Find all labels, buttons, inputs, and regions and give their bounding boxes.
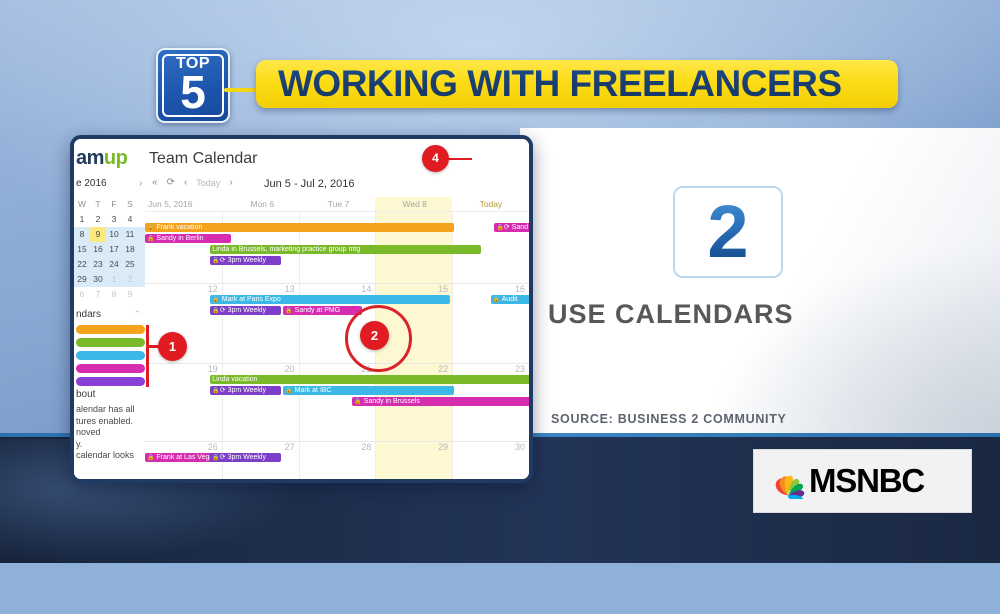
day-number[interactable] bbox=[299, 211, 376, 223]
mini-calendar-day[interactable]: 9 bbox=[90, 227, 106, 242]
day-number[interactable] bbox=[375, 211, 452, 223]
banner-title: WORKING WITH FREELANCERS bbox=[278, 64, 884, 104]
headline: USE CALENDARS bbox=[548, 299, 968, 330]
annotation-4-leader bbox=[446, 158, 472, 160]
annotation-marker-2: 2 bbox=[360, 321, 389, 350]
next-period-icon[interactable]: › bbox=[229, 177, 232, 188]
calendar-event[interactable]: Sand bbox=[494, 223, 529, 232]
item-number-box: 2 bbox=[673, 186, 783, 278]
calendar-event[interactable]: 3pm Weekly bbox=[210, 386, 281, 395]
calendars-section-label: ndars bbox=[76, 309, 101, 320]
mini-calendar-weekday: W bbox=[74, 197, 90, 212]
calendars-section-title: ndars ⌃ bbox=[76, 309, 145, 320]
mini-calendar-day[interactable]: 1 bbox=[106, 272, 122, 287]
app-window: amup Team Calendar Access: Lind e 2016 ›… bbox=[70, 135, 533, 483]
app-window-content: amup Team Calendar Access: Lind e 2016 ›… bbox=[74, 139, 529, 479]
calendar-event[interactable]: Mark at IBC bbox=[283, 386, 454, 395]
lock-icon bbox=[496, 224, 503, 231]
logo-text-part2: up bbox=[104, 147, 127, 169]
network-logo: MSNBC bbox=[753, 449, 972, 513]
mini-calendar-day[interactable]: 6 bbox=[74, 287, 90, 302]
mini-next-icon[interactable]: › bbox=[139, 178, 142, 189]
mini-calendar-week-row: 293012 bbox=[74, 272, 145, 287]
calendar-color-bar[interactable] bbox=[76, 351, 145, 360]
mini-calendar-day[interactable]: 18 bbox=[122, 242, 138, 257]
calendar-week-row[interactable]: 1213141516 Mark at Paris Expo 3pm Weekly… bbox=[145, 283, 529, 364]
calendar-event[interactable]: Linda in Brussels, marketing practice gr… bbox=[210, 245, 481, 254]
day-number-row bbox=[145, 211, 529, 223]
lock-icon bbox=[212, 387, 219, 394]
mini-calendar-day[interactable]: 22 bbox=[74, 257, 90, 272]
event-title: Audit bbox=[500, 296, 518, 303]
mini-calendar-week-row: 22232425 bbox=[74, 257, 145, 272]
lock-icon bbox=[212, 257, 219, 264]
event-title: Frank vacation bbox=[154, 224, 202, 231]
day-header: Today bbox=[453, 197, 529, 211]
calendar-event[interactable]: 3pm Weekly bbox=[210, 256, 281, 265]
mini-month-nav: e 2016 › bbox=[76, 178, 107, 189]
calendar-event[interactable]: Sandy in Brussels bbox=[352, 397, 529, 406]
event-title: Mark at IBC bbox=[293, 387, 332, 394]
day-number[interactable]: 13 bbox=[222, 283, 299, 295]
lock-icon bbox=[212, 454, 219, 461]
teamup-logo[interactable]: amup bbox=[76, 147, 127, 170]
calendar-event[interactable]: Sandy at PMG bbox=[283, 306, 362, 315]
content-panel bbox=[520, 128, 1000, 433]
sidebar: WTFS123489101115161718222324252930126789… bbox=[74, 197, 146, 479]
event-title: Sand bbox=[510, 224, 528, 231]
mini-calendar-day[interactable]: 4 bbox=[122, 212, 138, 227]
about-text-line: noved bbox=[76, 427, 145, 439]
mini-calendar-weekday: T bbox=[90, 197, 106, 212]
source-credit: SOURCE: BUSINESS 2 COMMUNITY bbox=[551, 412, 787, 426]
day-number[interactable]: 20 bbox=[222, 363, 299, 375]
mini-calendar-day[interactable]: 17 bbox=[106, 242, 122, 257]
lock-icon bbox=[212, 307, 219, 314]
about-text-line: tures enabled. bbox=[76, 416, 145, 428]
day-header: Tue 7 bbox=[300, 197, 376, 211]
calendar-event[interactable]: Frank at Las Vegas bbox=[145, 453, 216, 462]
chevron-up-icon[interactable]: ⌃ bbox=[133, 309, 141, 320]
day-header: Wed 8 bbox=[377, 197, 453, 211]
prev-period-icon[interactable]: ‹ bbox=[184, 177, 187, 188]
day-number[interactable]: 12 bbox=[145, 283, 222, 295]
annotation-marker-1: 1 bbox=[158, 332, 187, 361]
day-number[interactable]: 27 bbox=[222, 441, 299, 453]
calendar-color-bar[interactable] bbox=[76, 338, 145, 347]
about-text-line: y. bbox=[76, 439, 145, 451]
about-text-line: calendar looks bbox=[76, 450, 145, 462]
first-page-icon[interactable]: « bbox=[152, 177, 158, 188]
mini-calendar-day[interactable]: 24 bbox=[106, 257, 122, 272]
mini-calendar-day[interactable]: 8 bbox=[106, 287, 122, 302]
about-section: bout alendar has alltures enabled.novedy… bbox=[76, 389, 145, 462]
today-button[interactable]: Today bbox=[196, 178, 220, 188]
event-title: Linda vacation bbox=[212, 376, 257, 383]
day-header: Mon 6 bbox=[224, 197, 300, 211]
lock-icon bbox=[285, 387, 292, 394]
calendar-event[interactable]: Frank vacation bbox=[145, 223, 454, 232]
calendar-event[interactable]: Linda vacation bbox=[210, 375, 529, 384]
lock-icon bbox=[212, 296, 219, 303]
calendar-color-bar[interactable] bbox=[76, 364, 145, 373]
banner: WORKING WITH FREELANCERS bbox=[256, 60, 898, 108]
day-number-row: 2627282930 bbox=[145, 441, 529, 453]
network-name: MSNBC bbox=[809, 462, 924, 500]
day-number[interactable]: 29 bbox=[375, 441, 452, 453]
event-title: Linda in Brussels, marketing practice gr… bbox=[212, 246, 360, 253]
event-title: Frank at Las Vegas bbox=[154, 454, 216, 461]
day-number[interactable]: 15 bbox=[375, 283, 452, 295]
top5-badge: TOP 5 bbox=[156, 48, 230, 123]
toolbar: e 2016 › « ⟳ ‹ Today › Jun 5 - Jul 2, 20… bbox=[74, 175, 529, 198]
mini-calendar-week-row: 6789 bbox=[74, 287, 145, 302]
calendar-event[interactable]: Audit bbox=[491, 295, 529, 304]
mini-calendar-day[interactable]: 23 bbox=[90, 257, 106, 272]
day-number[interactable]: 14 bbox=[299, 283, 376, 295]
date-range-label: Jun 5 - Jul 2, 2016 bbox=[264, 178, 355, 190]
about-text-line: alendar has all bbox=[76, 404, 145, 416]
annotation-1-bracket bbox=[146, 325, 149, 387]
event-title: 3pm Weekly bbox=[226, 387, 266, 394]
mini-calendar-day[interactable]: 11 bbox=[122, 227, 138, 242]
calendars-section: ndars ⌃ bbox=[76, 309, 145, 390]
calendar-event[interactable]: Mark at Paris Expo bbox=[210, 295, 450, 304]
logo-text-part1: am bbox=[76, 147, 104, 169]
mini-calendar-day[interactable]: 8 bbox=[74, 227, 90, 242]
mini-calendar[interactable]: WTFS123489101115161718222324252930126789 bbox=[74, 197, 145, 302]
calendar-color-list[interactable] bbox=[76, 325, 145, 386]
day-number[interactable]: 30 bbox=[452, 441, 529, 453]
mini-calendar-week-row: 15161718 bbox=[74, 242, 145, 257]
day-number[interactable] bbox=[222, 211, 299, 223]
refresh-icon[interactable]: ⟳ bbox=[167, 177, 175, 188]
top5-badge-number: 5 bbox=[158, 69, 228, 115]
lock-icon bbox=[493, 296, 500, 303]
event-title: Sandy at PMG bbox=[293, 307, 340, 314]
about-section-title: bout bbox=[76, 389, 145, 400]
mini-calendar-day[interactable]: 16 bbox=[90, 242, 106, 257]
calendar-week-row[interactable]: 1920212223 Linda vacation 3pm Weekly Mar… bbox=[145, 363, 529, 442]
mini-calendar-weekday-row: WTFS bbox=[74, 197, 145, 212]
mini-calendar-day[interactable]: 3 bbox=[106, 212, 122, 227]
mini-calendar-day[interactable]: 15 bbox=[74, 242, 90, 257]
calendar-color-bar[interactable] bbox=[76, 325, 145, 334]
lock-icon bbox=[285, 307, 292, 314]
day-number[interactable] bbox=[452, 211, 529, 223]
day-number[interactable]: 28 bbox=[299, 441, 376, 453]
mini-month-label: e 2016 bbox=[76, 178, 107, 189]
peacock-icon bbox=[770, 463, 806, 499]
day-number[interactable] bbox=[145, 211, 222, 223]
event-title: 3pm Weekly bbox=[226, 307, 266, 314]
mini-calendar-day[interactable]: 29 bbox=[74, 272, 90, 287]
mini-calendar-week-row: 891011 bbox=[74, 227, 145, 242]
event-title: Sandy in Brussels bbox=[362, 398, 420, 405]
calendar-color-bar[interactable] bbox=[76, 377, 145, 386]
mini-calendar-weekday: S bbox=[122, 197, 138, 212]
annotation-marker-4: 4 bbox=[422, 145, 449, 172]
mini-calendar-day[interactable]: 1 bbox=[74, 212, 90, 227]
calendar-week-row[interactable]: 2627282930 Frank at Las Vegas 3pm Weekly bbox=[145, 441, 529, 479]
calendar-event[interactable]: 3pm Weekly bbox=[210, 306, 281, 315]
toolbar-buttons: « ⟳ ‹ Today › bbox=[152, 177, 233, 188]
about-text: alendar has alltures enabled.novedy.cale… bbox=[76, 404, 145, 462]
item-number: 2 bbox=[675, 188, 781, 276]
day-number[interactable]: 19 bbox=[145, 363, 222, 375]
mini-calendar-day[interactable]: 10 bbox=[106, 227, 122, 242]
mini-calendar-day[interactable]: 7 bbox=[90, 287, 106, 302]
calendar-event[interactable]: 3pm Weekly bbox=[210, 453, 281, 462]
day-headers: Jun 5, 2016Mon 6Tue 7Wed 8Today bbox=[145, 197, 529, 212]
mini-calendar-day[interactable]: 30 bbox=[90, 272, 106, 287]
mini-calendar-week-row: 1234 bbox=[74, 212, 145, 227]
page-title: Team Calendar bbox=[149, 150, 258, 168]
app-header: amup Team Calendar Access: Lind bbox=[74, 139, 529, 175]
event-title: 3pm Weekly bbox=[226, 454, 266, 461]
mini-calendar-day[interactable]: 25 bbox=[122, 257, 138, 272]
day-number-row: 1213141516 bbox=[145, 283, 529, 295]
mini-calendar-weekday: F bbox=[106, 197, 122, 212]
day-header: Jun 5, 2016 bbox=[145, 197, 224, 211]
event-title: Sandy in Berlin bbox=[154, 235, 203, 242]
event-title: Mark at Paris Expo bbox=[220, 296, 281, 303]
day-number[interactable]: 26 bbox=[145, 441, 222, 453]
calendar-grid[interactable]: Jun 5, 2016Mon 6Tue 7Wed 8Today Frank va… bbox=[145, 197, 529, 479]
event-title: 3pm Weekly bbox=[226, 257, 266, 264]
mini-calendar-day[interactable]: 2 bbox=[122, 272, 138, 287]
day-number[interactable]: 16 bbox=[452, 283, 529, 295]
lock-icon bbox=[354, 398, 361, 405]
day-number[interactable]: 23 bbox=[452, 363, 529, 375]
calendar-event[interactable]: Sandy in Berlin bbox=[145, 234, 231, 243]
mini-calendar-day[interactable]: 9 bbox=[122, 287, 138, 302]
calendar-week-row[interactable]: Frank vacation Sandy in Berlin Sand Lind… bbox=[145, 211, 529, 284]
day-number-row: 1920212223 bbox=[145, 363, 529, 375]
mini-calendar-day[interactable]: 2 bbox=[90, 212, 106, 227]
